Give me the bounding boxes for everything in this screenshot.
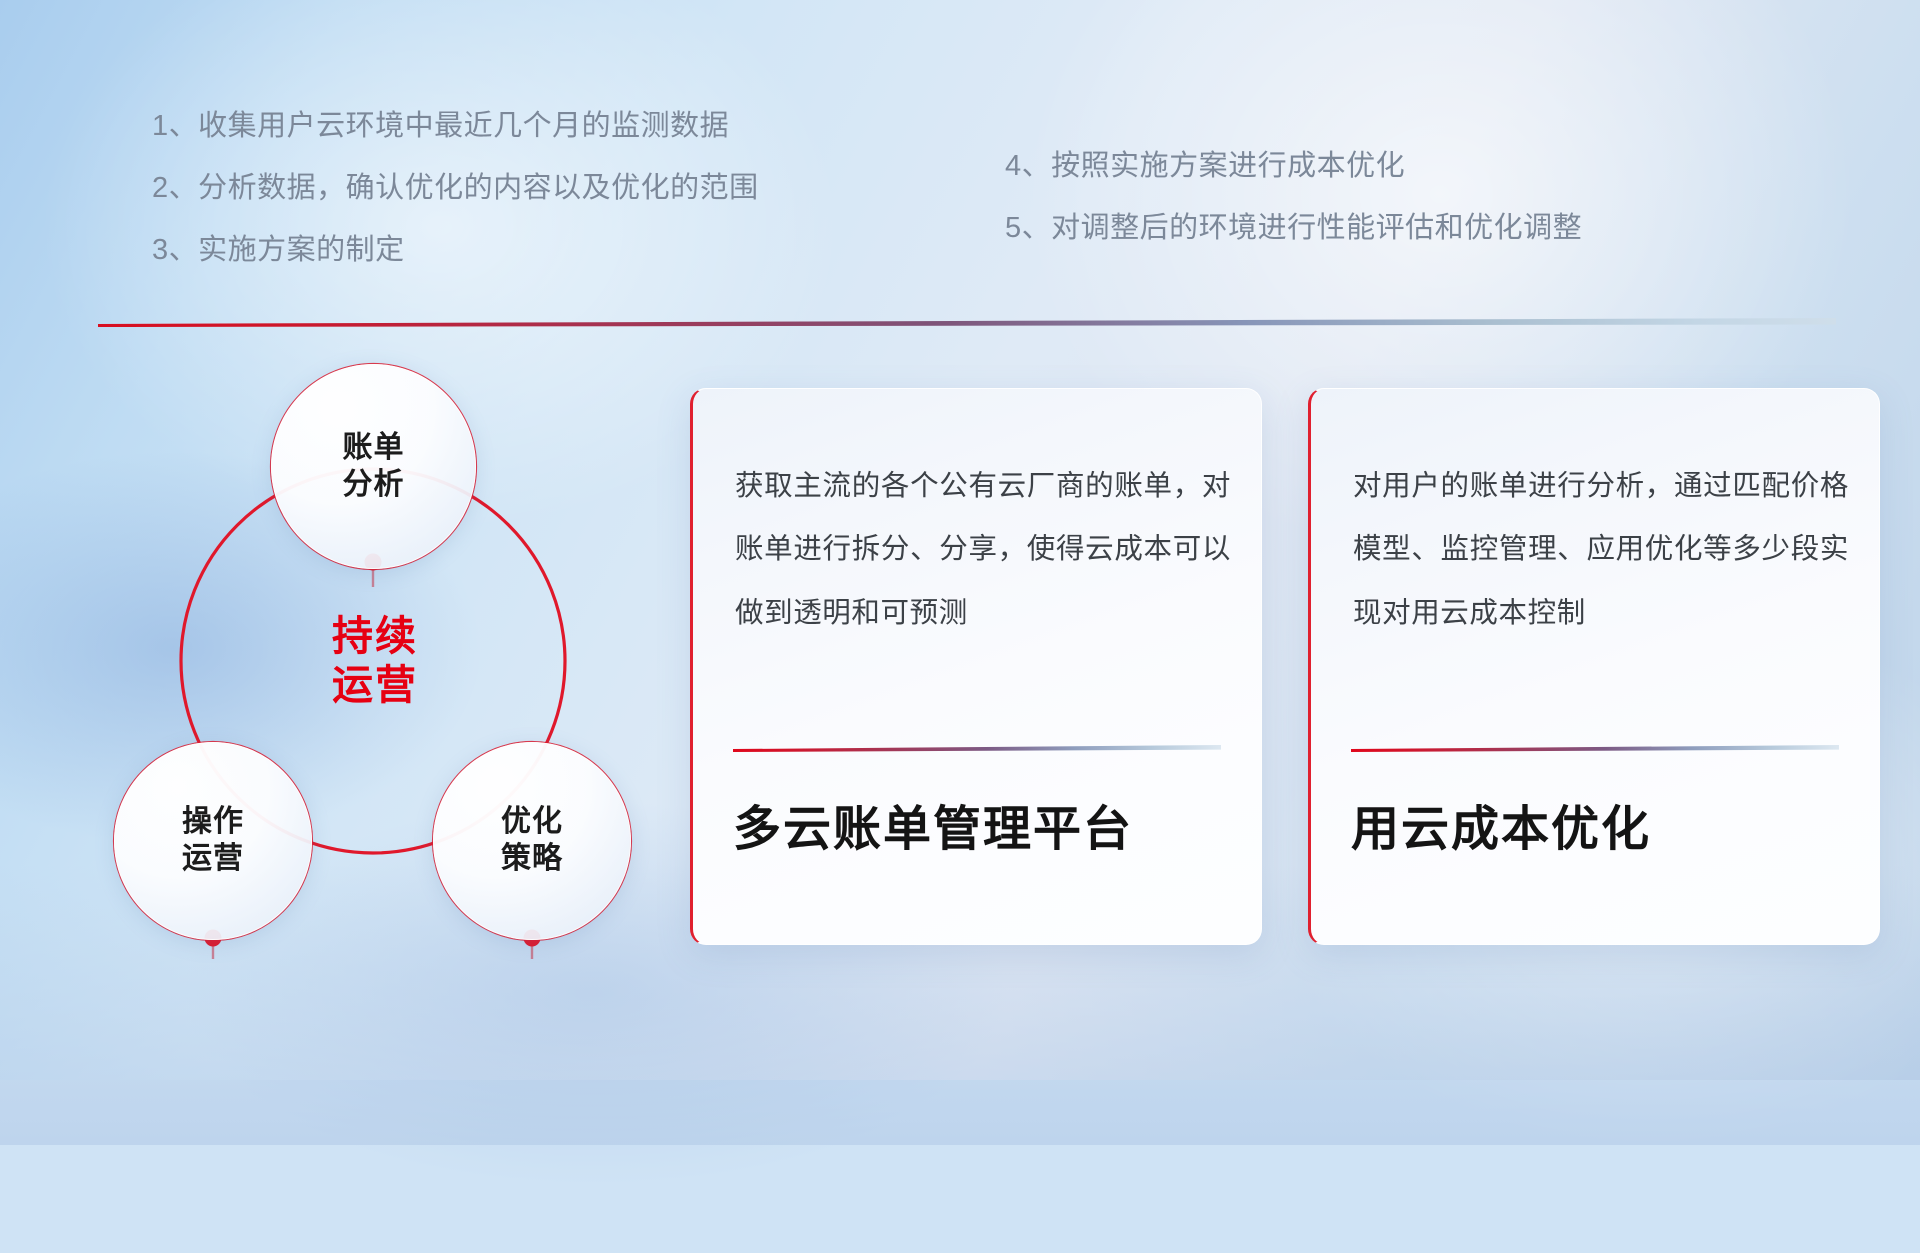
step-item: 1、收集用户云环境中最近几个月的监测数据 [152, 112, 759, 141]
step-item: 2、分析数据，确认优化的内容以及优化的范围 [152, 174, 759, 203]
card-multi-cloud-bill-platform[interactable]: 获取主流的各个公有云厂商的账单，对账单进行拆分、分享，使得云成本可以做到透明和可… [690, 388, 1262, 945]
diagram-bubble-operation[interactable]: 操作 运营 [114, 742, 312, 940]
slide-content: 1、收集用户云环境中最近几个月的监测数据 2、分析数据，确认优化的内容以及优化的… [0, 0, 1920, 1080]
card-body-text: 对用户的账单进行分析，通过匹配价格模型、监控管理、应用优化等多少段实现对用云成本… [1353, 455, 1849, 645]
bubble-label: 优化 策略 [501, 804, 563, 877]
steps-right-column: 4、按照实施方案进行成本优化 5、对调整后的环境进行性能评估和优化调整 [1005, 152, 1582, 243]
card-title: 用云成本优化 [1351, 789, 1651, 859]
bubble-label: 操作 运营 [182, 804, 244, 877]
section-divider [98, 318, 1836, 327]
card-divider [733, 745, 1221, 752]
diagram-center-label: 持续 运营 [287, 581, 463, 741]
step-item: 5、对调整后的环境进行性能评估和优化调整 [1005, 214, 1582, 243]
step-item: 4、按照实施方案进行成本优化 [1005, 152, 1582, 181]
diagram-bubble-optimization-strategy[interactable]: 优化 策略 [433, 742, 631, 940]
bubble-label: 账单 分析 [343, 430, 405, 503]
card-cloud-cost-optimization[interactable]: 对用户的账单进行分析，通过匹配价格模型、监控管理、应用优化等多少段实现对用云成本… [1308, 388, 1880, 945]
card-title: 多云账单管理平台 [733, 789, 1133, 859]
card-body-text: 获取主流的各个公有云厂商的账单，对账单进行拆分、分享，使得云成本可以做到透明和可… [735, 455, 1231, 645]
step-item: 3、实施方案的制定 [152, 236, 759, 265]
continuous-operation-diagram: 账单 分析 操作 运营 优化 策略 持续 运营 [100, 355, 660, 945]
diagram-bubble-bill-analysis[interactable]: 账单 分析 [271, 364, 476, 569]
steps-left-column: 1、收集用户云环境中最近几个月的监测数据 2、分析数据，确认优化的内容以及优化的… [152, 112, 759, 265]
card-divider [1351, 745, 1839, 752]
